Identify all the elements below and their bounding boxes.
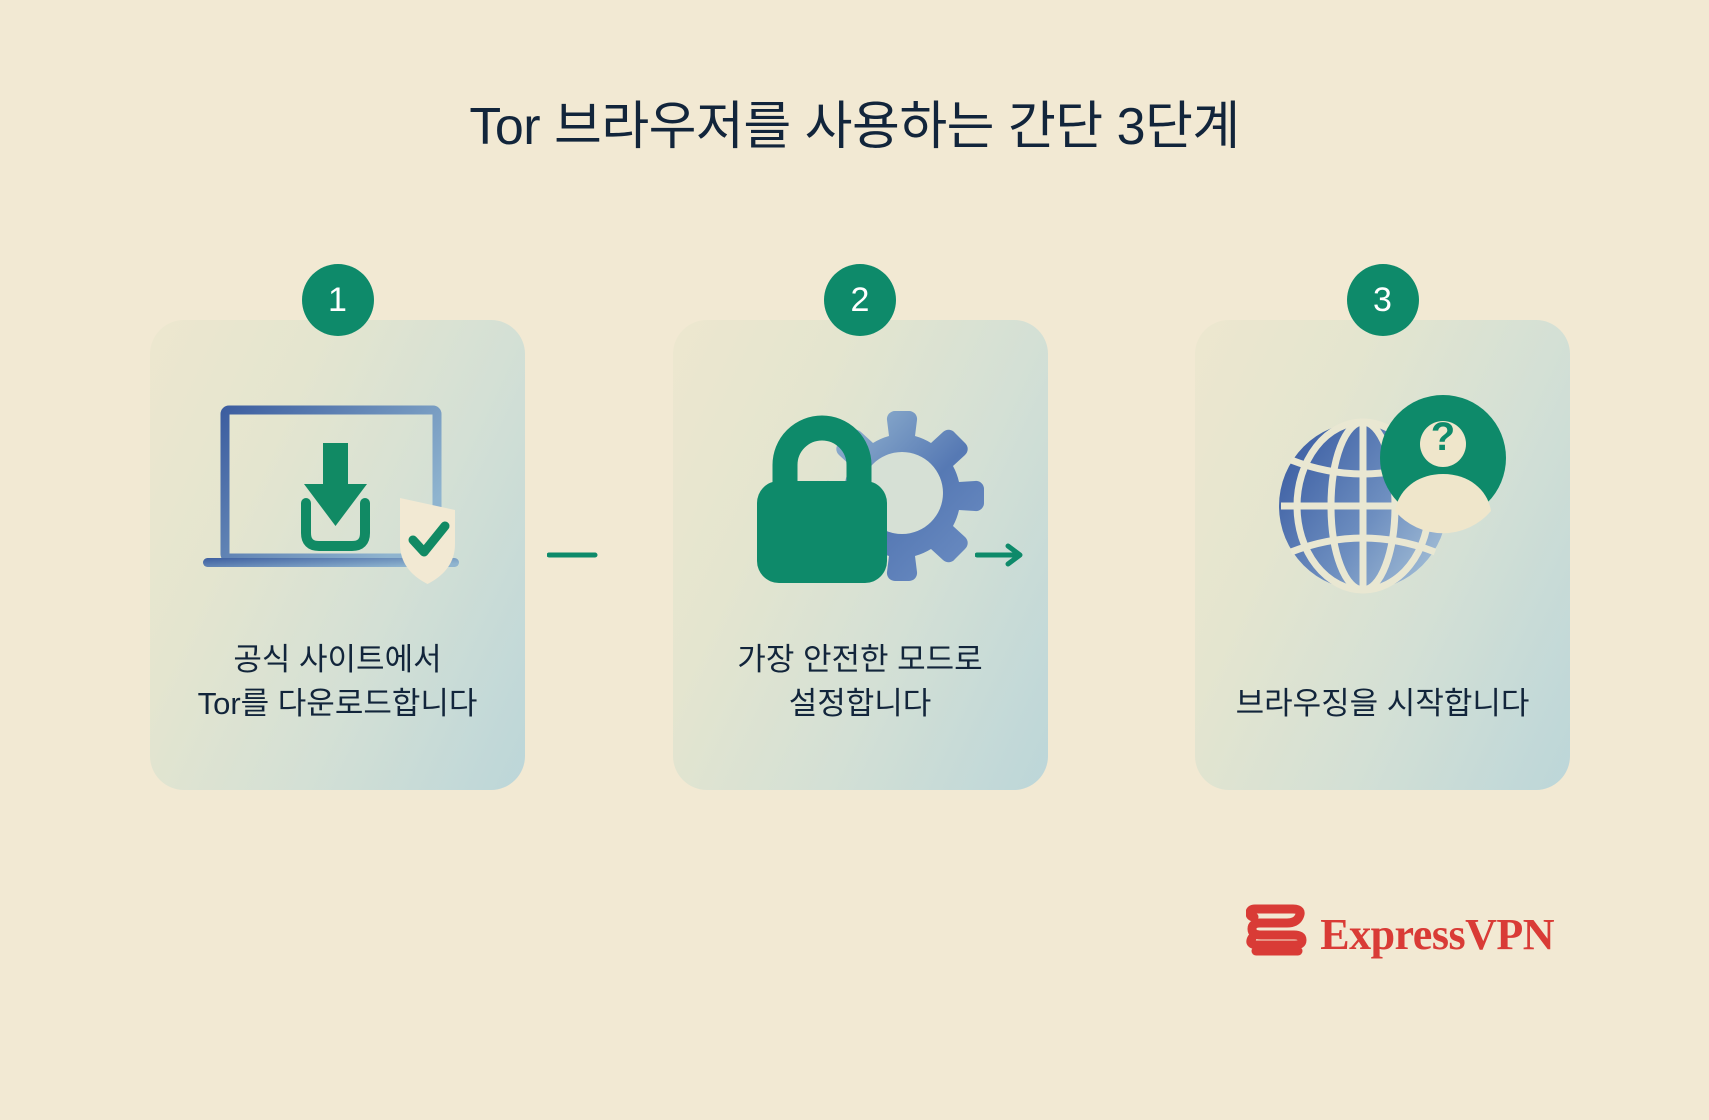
step-number-badge-2: 2 [824, 264, 896, 336]
expressvpn-wordmark: ExpressVPN [1320, 909, 1554, 960]
expressvpn-logo: ExpressVPN [1246, 904, 1554, 965]
step-caption-2-line2: 설정합니다 [691, 682, 1030, 726]
step-caption-1-line1: 공식 사이트에서 [168, 638, 507, 682]
step-caption-3-line1: 브라우징을 시작합니다 [1213, 682, 1552, 726]
lock-gear-icon [673, 368, 1048, 618]
svg-text:?: ? [1430, 415, 1454, 459]
step-number-badge-1: 1 [302, 264, 374, 336]
step-caption-2: 가장 안전한 모드로 설정합니다 [673, 638, 1048, 726]
infographic-page: Tor 브라우저를 사용하는 간단 3단계 1 [0, 0, 1709, 1120]
step-caption-3: 브라우징을 시작합니다 [1195, 682, 1570, 726]
expressvpn-mark-icon [1246, 904, 1308, 965]
steps-row: 1 [150, 320, 1570, 790]
globe-anonymous-user-icon: ? [1195, 368, 1570, 618]
step-caption-2-line1: 가장 안전한 모드로 [691, 638, 1030, 682]
step-card-3: 3 [1195, 320, 1570, 790]
page-title: Tor 브라우저를 사용하는 간단 3단계 [0, 96, 1709, 158]
step-number-badge-3: 3 [1347, 264, 1419, 336]
step-card-1: 1 [150, 320, 525, 790]
step-caption-1-line2: Tor를 다운로드합니다 [168, 682, 507, 726]
arrow-connector [975, 540, 1031, 570]
step-caption-1: 공식 사이트에서 Tor를 다운로드합니다 [150, 638, 525, 726]
dash-connector [547, 540, 603, 570]
laptop-download-shield-icon [150, 368, 525, 618]
